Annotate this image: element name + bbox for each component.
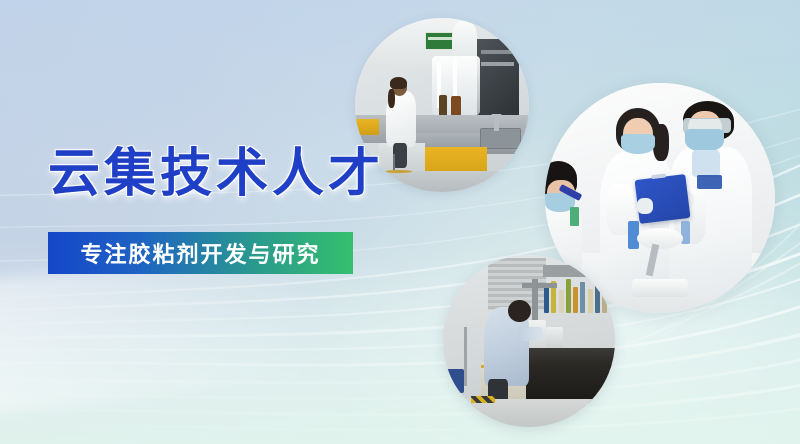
technician-ponytail [388,89,395,108]
female-researcher-glove [637,198,653,214]
technician-hair [390,77,407,89]
reagent-bottle [559,290,564,313]
male-researcher-mask [685,129,724,152]
reagent-bottle [580,282,585,313]
subtitle-text: 专注胶粘剂开发与研究 [80,237,320,269]
technician-arm [519,327,543,341]
reagent-bottle [573,287,578,313]
reagent-bottles [543,276,615,314]
female-researcher-mask [621,134,656,155]
reagent-bottle [602,285,607,313]
equipment-frame-bar [522,283,556,288]
reagent-bottle [439,95,448,118]
headline: 云集技术人才 [48,148,384,200]
reagent-bottle [544,286,549,313]
blue-bin [446,369,463,393]
promo-banner: 云集技术人才 专注胶粘剂开发与研究 [0,0,800,444]
coat-logo [697,175,722,189]
faucet [494,114,499,131]
lab-floor [443,399,615,427]
stand-pole [464,327,467,385]
reagent-bottle [566,279,571,313]
instrument-base [632,279,687,297]
hazard-tape [471,396,495,403]
technician-head [508,300,530,322]
reagent-bottle [588,289,593,314]
fume-hood [452,21,476,59]
lab-sink [480,128,520,149]
yellow-panel [355,119,379,135]
lab-stool [385,154,413,182]
subtitle-banner: 专注胶粘剂开发与研究 [48,232,353,274]
photo-technician-at-instrument [443,255,615,427]
dark-equipment-rack [477,39,519,116]
lab-lamp-head [637,228,683,249]
male-researcher-shirt [692,150,720,178]
reagent-bottle [451,96,461,117]
test-tube [570,207,579,225]
reagent-bottle [595,280,600,313]
